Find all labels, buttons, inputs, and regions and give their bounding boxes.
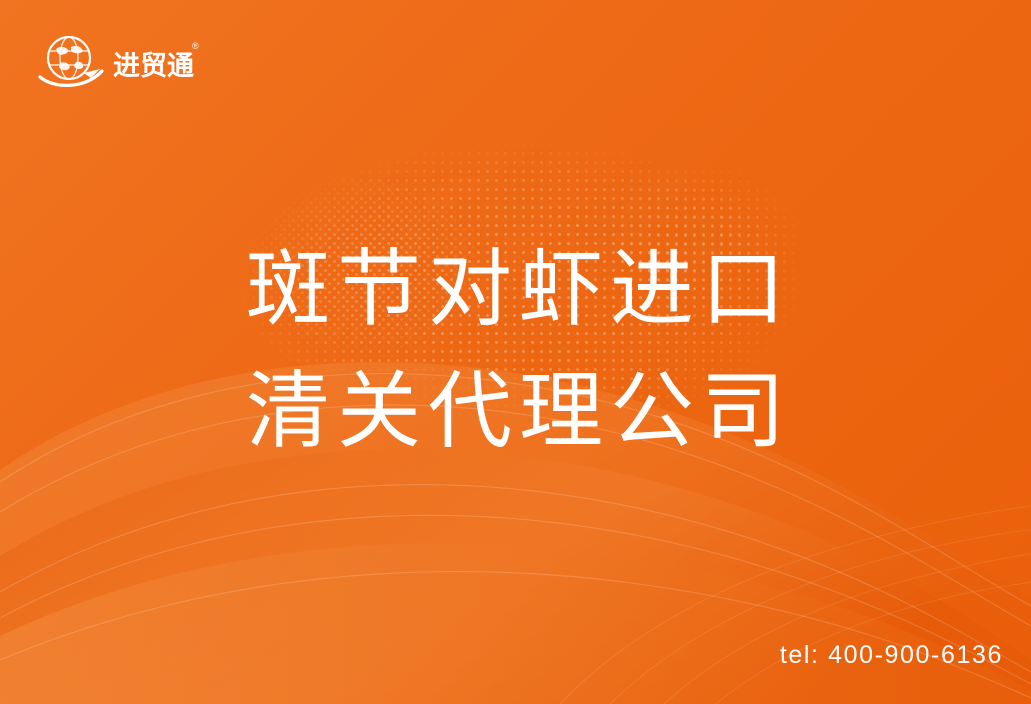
headline-line-2: 清关代理公司	[0, 350, 1031, 472]
imton-globe-icon	[38, 33, 104, 95]
brand-logo: 进贸通 ®	[38, 33, 201, 95]
logo-chinese-name: 进贸通	[113, 53, 194, 80]
registered-trademark-icon: ®	[192, 41, 199, 51]
headline: 斑节对虾进口 清关代理公司	[0, 228, 1031, 472]
promo-banner: 进贸通 ® 斑节对虾进口 清关代理公司 tel: 400-900-6136	[0, 0, 1031, 704]
contact-phone: tel: 400-900-6136	[780, 641, 1003, 670]
headline-line-1: 斑节对虾进口	[0, 228, 1031, 350]
